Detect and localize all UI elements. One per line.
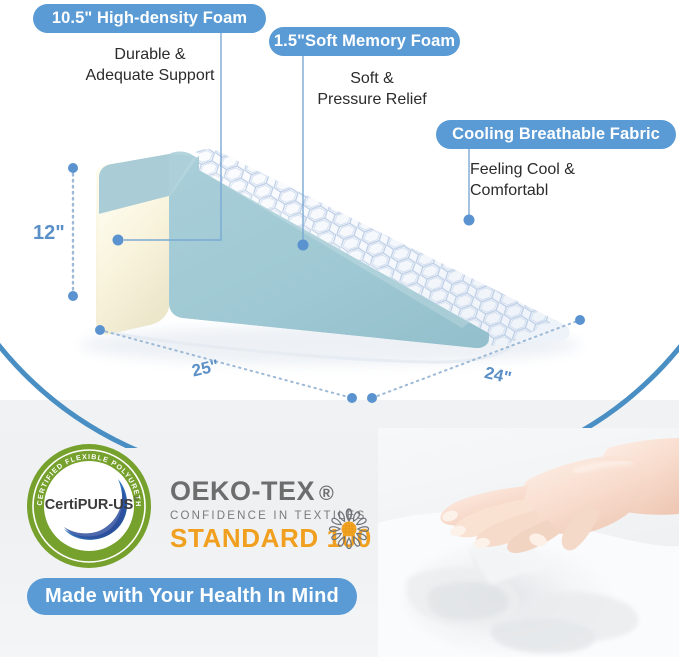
infographic-canvas: 10.5" High-density Foam Durable & Adequa… <box>0 0 679 657</box>
hand-pressing-foam-photo <box>378 428 679 657</box>
health-banner[interactable]: Made with Your Health In Mind <box>27 578 357 615</box>
dimension-label-height: 12" <box>33 222 65 245</box>
callout-pill-high-density-foam[interactable]: 10.5" High-density Foam <box>33 4 266 33</box>
leader-dot-memory <box>298 240 309 251</box>
callout-pill-cooling-breathable-fabric[interactable]: Cooling Breathable Fabric <box>436 120 676 149</box>
oeko-tex-flower-icon <box>325 505 373 553</box>
oeko-tex-title: OEKO-TEX <box>170 476 315 506</box>
callout-desc-cooling-breathable-fabric: Feeling Cool & Comfortabl <box>470 159 660 201</box>
leader-dot-fabric <box>464 215 475 226</box>
certipur-wordmark: CertiPUR-US <box>45 497 134 513</box>
leader-dot-foam <box>113 235 124 246</box>
callout-pill-soft-memory-foam[interactable]: 1.5"Soft Memory Foam <box>269 27 460 56</box>
height-dim-dot-top <box>68 163 78 173</box>
callout-desc-soft-memory-foam: Soft & Pressure Relief <box>290 68 454 110</box>
certipur-registered-mark: ® <box>134 496 139 503</box>
callout-desc-high-density-foam: Durable & Adequate Support <box>48 44 252 86</box>
certipur-us-badge: CONTAINS CERTIFIED FLEXIBLE POLYURETHANE… <box>26 443 152 569</box>
height-dim-dot-bottom <box>68 291 78 301</box>
